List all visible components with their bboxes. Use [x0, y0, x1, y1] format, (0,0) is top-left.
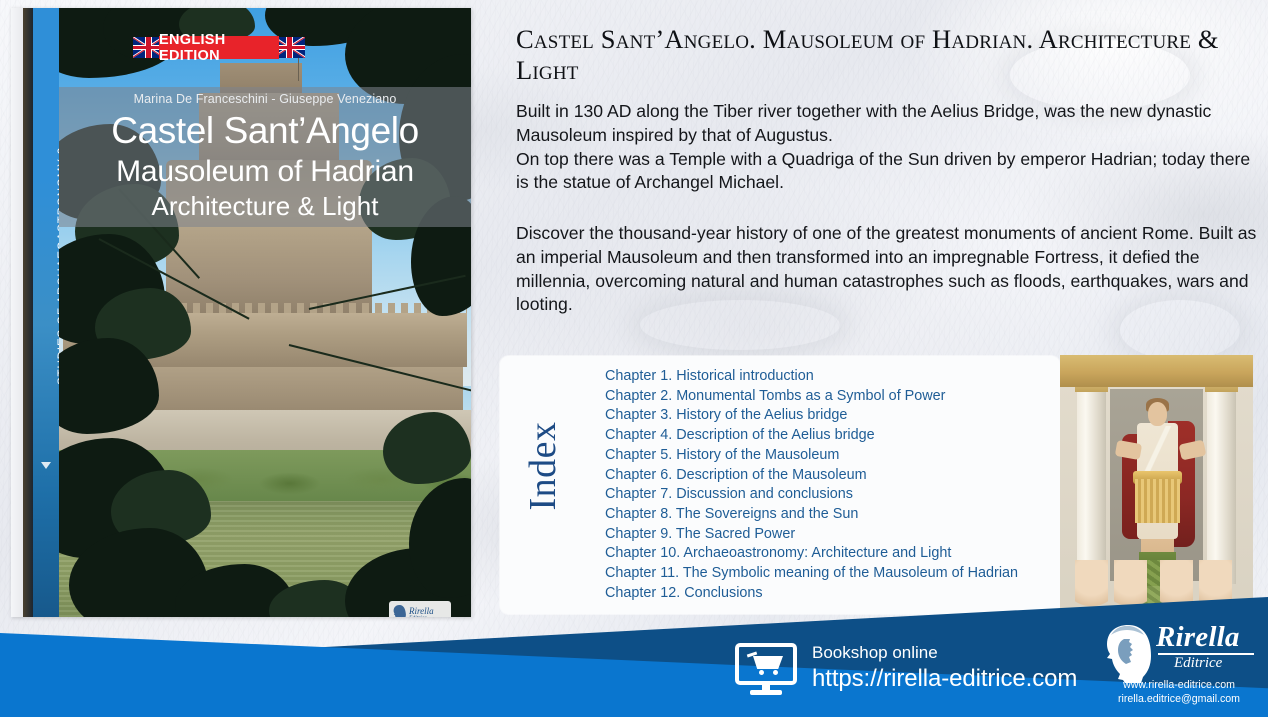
- list-item: Chapter 5. History of the Mausoleum: [605, 446, 1055, 466]
- intro-paragraph: Built in 130 AD along the Tiber river to…: [516, 100, 1258, 195]
- hadrian-fresco-image: [1060, 355, 1253, 618]
- publisher-email[interactable]: rirella.editrice@gmail.com: [1098, 693, 1260, 707]
- index-panel: Index Chapter 1. Historical introduction…: [500, 356, 1060, 614]
- cover-title-line2: Mausoleum of Hadrian: [59, 155, 471, 189]
- list-item: Chapter 8. The Sovereigns and the Sun: [605, 505, 1055, 525]
- footer: Bookshop online https://rirella-editrice…: [0, 597, 1268, 717]
- hadrian-sash: [1141, 426, 1174, 473]
- cover-edge: [23, 8, 33, 617]
- monitor-cart-icon: [735, 643, 797, 695]
- list-item: Chapter 9. The Sacred Power: [605, 525, 1055, 545]
- cover-title-line3: Architecture & Light: [59, 191, 471, 222]
- publisher-website[interactable]: www.rirella-editrice.com: [1098, 679, 1260, 693]
- bookshop-block: Bookshop online https://rirella-editrice…: [812, 642, 1077, 693]
- bookshop-label: Bookshop online: [812, 642, 1077, 664]
- spine-arrow-icon: [41, 462, 51, 469]
- cover-authors: Marina De Franceschini - Giuseppe Venezi…: [59, 92, 471, 106]
- slide-canvas: STUDIES OF ARCHAEOASTRONOMY 2: [0, 0, 1268, 717]
- fresco-entablature: [1060, 355, 1253, 387]
- list-item: Chapter 11. The Symbolic meaning of the …: [605, 564, 1055, 584]
- logo-subname: Editrice: [1174, 656, 1254, 671]
- english-edition-badge: ENGLISH EDITION: [133, 34, 305, 61]
- hadrian-head: [1148, 402, 1167, 426]
- chapter-list: Chapter 1. Historical introduction Chapt…: [605, 367, 1055, 603]
- publisher-contact: www.rirella-editrice.com rirella.editric…: [1098, 679, 1260, 707]
- logo-text: Rirella Editrice: [1156, 623, 1254, 671]
- index-label: Index: [521, 376, 565, 556]
- list-item: Chapter 6. Description of the Mausoleum: [605, 466, 1055, 486]
- list-item: Chapter 3. History of the Aelius bridge: [605, 406, 1055, 426]
- list-item: Chapter 7. Discussion and conclusions: [605, 485, 1055, 505]
- hadrian-kilt: [1135, 479, 1179, 524]
- fresco-column: [1207, 384, 1236, 584]
- fresco-column: [1077, 384, 1106, 584]
- list-item: Chapter 2. Monumental Tombs as a Symbol …: [605, 387, 1055, 407]
- book-spine: STUDIES OF ARCHAEOASTRONOMY 2: [33, 8, 59, 617]
- minerva-helmet-icon: [1102, 623, 1154, 685]
- list-item: Chapter 10. Archaeoastronomy: Architectu…: [605, 544, 1055, 564]
- publisher-logo[interactable]: Rirella Editrice www.rirella-editrice.co…: [1098, 623, 1260, 709]
- english-edition-label-box: ENGLISH EDITION: [159, 36, 279, 59]
- description-paragraph: Discover the thousand-year history of on…: [516, 222, 1258, 317]
- cover-margin: [11, 8, 23, 617]
- page-title: Castel Sant’Angelo. Mausoleum of Hadrian…: [516, 24, 1260, 85]
- cover-title-line1: Castel Sant’Angelo: [59, 112, 471, 151]
- list-item: Chapter 4. Description of the Aelius bri…: [605, 426, 1055, 446]
- book-cover: STUDIES OF ARCHAEOASTRONOMY 2: [11, 8, 471, 617]
- english-edition-label: ENGLISH EDITION: [159, 32, 279, 64]
- logo-name: Rirella: [1156, 623, 1254, 652]
- list-item: Chapter 1. Historical introduction: [605, 367, 1055, 387]
- content-column: Castel Sant’Angelo. Mausoleum of Hadrian…: [500, 0, 1268, 640]
- bookshop-url[interactable]: https://rirella-editrice.com: [812, 664, 1077, 693]
